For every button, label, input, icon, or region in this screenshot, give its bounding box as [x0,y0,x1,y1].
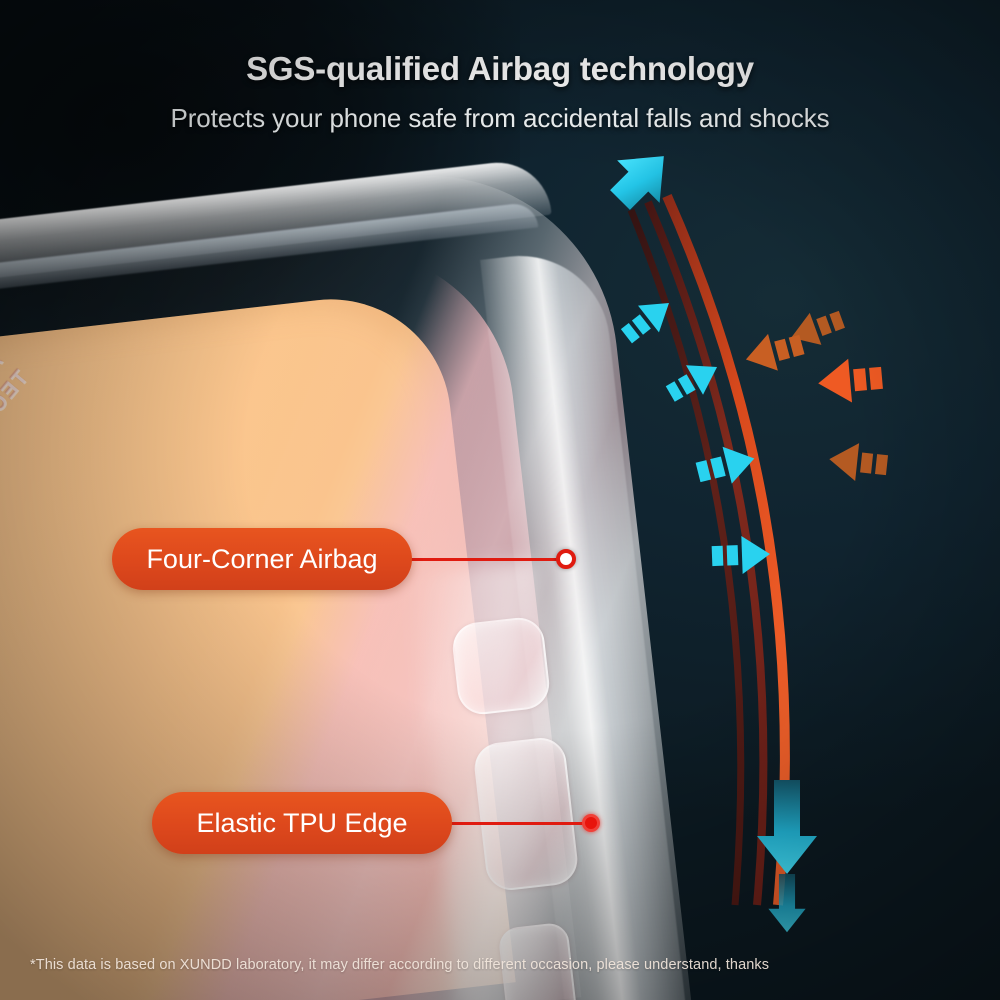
callout-four-corner-airbag[interactable]: Four-Corner Airbag [112,528,412,590]
ring-marker-icon [556,549,576,569]
callout-leader-line-tpu [440,822,590,825]
callout-leader-line-airbag [400,558,565,561]
disclaimer-text: *This data is based on XUNDD laboratory,… [30,957,980,973]
product-feature-banner: SGS-qualified Airbag technology Protects… [0,0,1000,1000]
dot-marker-icon [582,814,600,832]
background-vignette [0,0,1000,1000]
callout-elastic-tpu-edge[interactable]: Elastic TPU Edge [152,792,452,854]
